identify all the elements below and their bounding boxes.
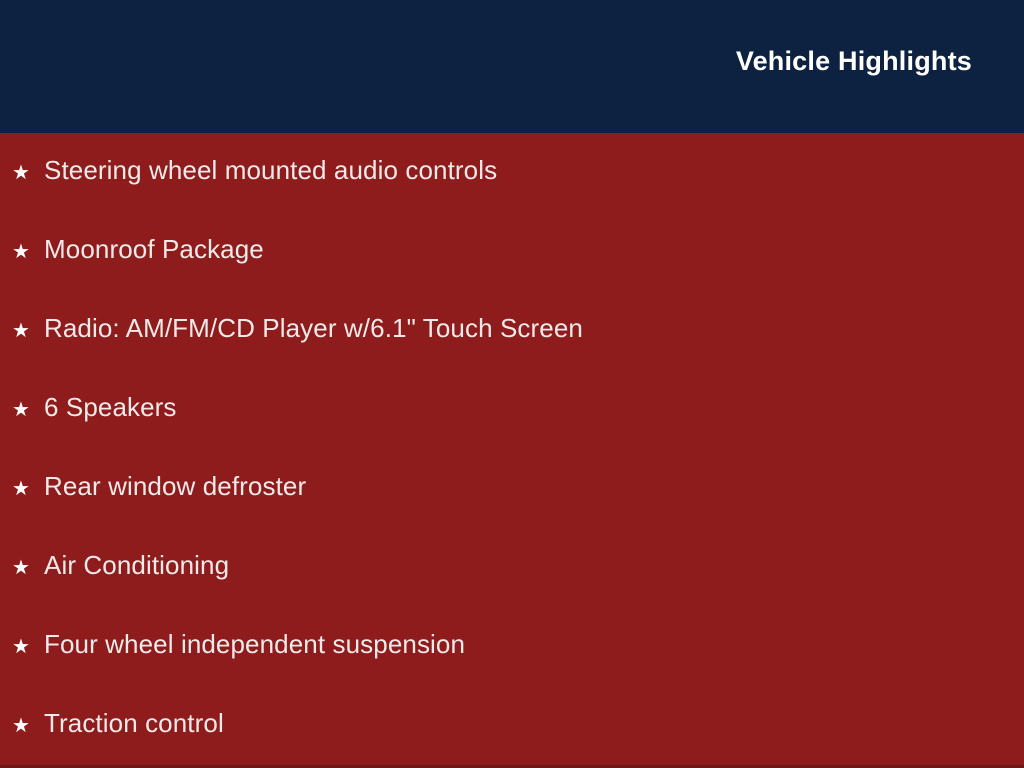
star-bullet-icon: ★: [12, 637, 44, 657]
star-bullet-icon: ★: [12, 400, 44, 420]
list-item-label: Four wheel independent suspension: [44, 631, 465, 657]
list-item-label: Traction control: [44, 710, 224, 736]
star-bullet-icon: ★: [12, 242, 44, 262]
list-item: ★ Radio: AM/FM/CD Player w/6.1" Touch Sc…: [12, 315, 583, 341]
list-item: ★ Traction control: [12, 710, 224, 736]
header-band: Vehicle Highlights: [0, 0, 1024, 133]
list-item: ★ 6 Speakers: [12, 394, 177, 420]
list-item: ★ Moonroof Package: [12, 236, 264, 262]
star-bullet-icon: ★: [12, 479, 44, 499]
list-item: ★ Air Conditioning: [12, 552, 229, 578]
star-bullet-icon: ★: [12, 163, 44, 183]
vehicle-highlights-list: ★ Steering wheel mounted audio controls …: [0, 133, 1024, 768]
list-item: ★ Rear window defroster: [12, 473, 306, 499]
list-item-label: Rear window defroster: [44, 473, 306, 499]
star-bullet-icon: ★: [12, 716, 44, 736]
page-title: Vehicle Highlights: [736, 46, 972, 77]
list-item: ★ Four wheel independent suspension: [12, 631, 465, 657]
star-bullet-icon: ★: [12, 558, 44, 578]
star-bullet-icon: ★: [12, 321, 44, 341]
list-item-label: Moonroof Package: [44, 236, 264, 262]
list-item-label: 6 Speakers: [44, 394, 177, 420]
list-item-label: Steering wheel mounted audio controls: [44, 157, 497, 183]
list-item-label: Radio: AM/FM/CD Player w/6.1" Touch Scre…: [44, 315, 583, 341]
list-item-label: Air Conditioning: [44, 552, 229, 578]
list-item: ★ Steering wheel mounted audio controls: [12, 157, 497, 183]
vehicle-highlights-slide: Vehicle Highlights ★ Steering wheel moun…: [0, 0, 1024, 768]
